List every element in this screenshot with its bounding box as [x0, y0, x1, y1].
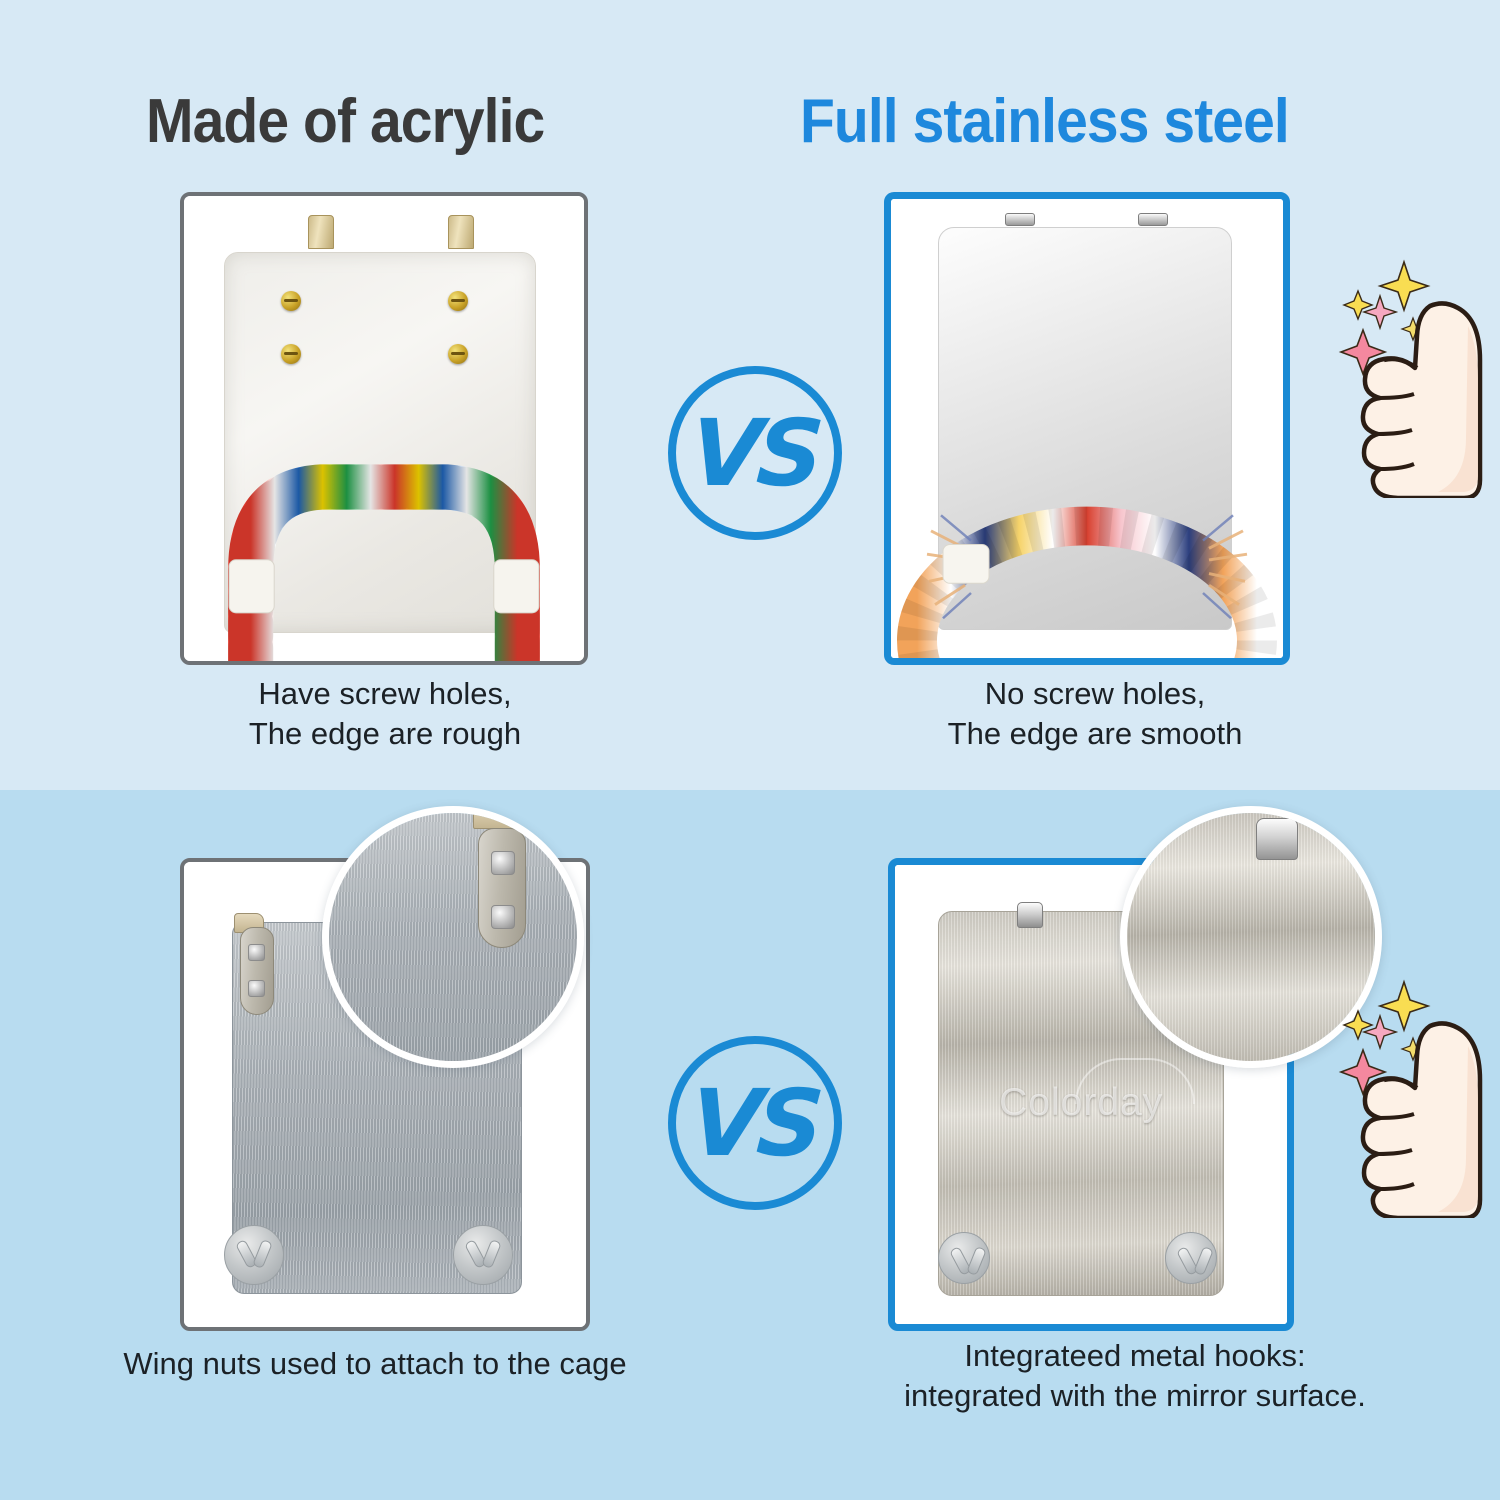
heading-right-stainless-steel: Full stainless steel — [800, 86, 1289, 157]
vs-badge-bottom: VS — [668, 1036, 842, 1210]
photo-inner-acrylic — [184, 196, 584, 661]
caption-stainless: No screw holes, The edge are smooth — [860, 674, 1330, 755]
bolt-icon — [491, 905, 515, 929]
vs-label: VS — [688, 400, 823, 507]
thumbs-up-top — [1318, 248, 1500, 498]
caption-integrated-hooks: Integrateed metal hooks: integrated with… — [840, 1336, 1430, 1417]
photo-inner-mirror — [891, 199, 1283, 658]
vs-badge-top: VS — [668, 366, 842, 540]
wing-nut-icon — [938, 1232, 990, 1284]
vs-label: VS — [688, 1070, 823, 1177]
thumbs-up-icon — [1318, 248, 1500, 498]
heading-left-acrylic: Made of acrylic — [146, 86, 544, 157]
magnifier-circle-wingnut-detail — [322, 806, 584, 1068]
bolt-icon — [248, 944, 265, 961]
hook-bracket-icon — [240, 927, 274, 1015]
cotton-rope-ring-icon — [891, 199, 1283, 658]
thumbs-up-icon — [1318, 968, 1500, 1218]
braided-rope-perch-icon — [184, 196, 584, 661]
infographic-canvas: Made of acrylic Full stainless steel — [0, 0, 1500, 1500]
photo-acrylic-panel — [180, 192, 588, 665]
thumbs-up-bottom — [1318, 968, 1500, 1218]
caption-wing-nuts: Wing nuts used to attach to the cage — [80, 1344, 670, 1384]
integrated-clip-hook-icon — [1017, 902, 1043, 928]
bolt-icon — [248, 980, 265, 997]
caption-acrylic: Have screw holes, The edge are rough — [150, 674, 620, 755]
wing-nut-icon — [453, 1225, 513, 1285]
magnifier-content — [329, 813, 577, 1061]
photo-stainless-mirror — [884, 192, 1290, 665]
bolt-icon — [491, 851, 515, 875]
wing-nut-icon — [224, 1225, 284, 1285]
brand-logo-text: Colorday — [939, 1081, 1223, 1125]
hook-bracket-icon — [478, 828, 526, 948]
integrated-clip-hook-icon — [1256, 818, 1298, 860]
